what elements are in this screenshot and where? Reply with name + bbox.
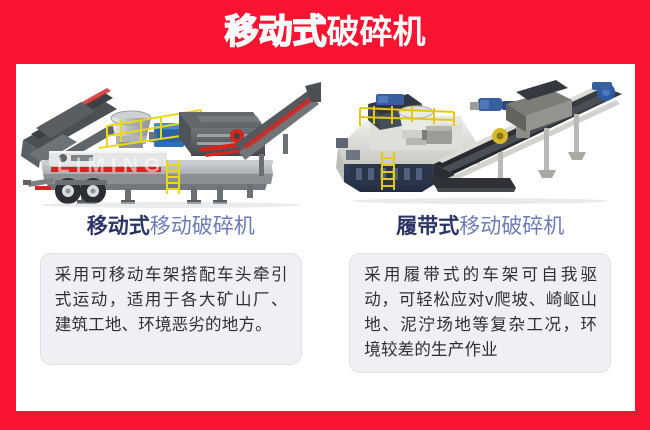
poster-title-bar: 移动式破碎机 [0,0,650,63]
poster-root: 移动式破碎机 [0,0,650,430]
crawler-mobile-crusher-photo: SH [330,68,630,208]
motor-block [422,126,452,144]
column-crawler-crusher: SH [326,64,636,411]
caption-light-crawler: 移动破碎机 [459,215,564,238]
caption-light-wheeled: 移动破碎机 [150,215,255,238]
page-title: 移动式破碎机 [225,15,426,49]
page-title-strong: 移动式 [225,15,327,49]
wheeled-mobile-crusher-photo: LIMING [21,68,321,208]
caption-wheeled: 移动式移动破碎机 [87,216,255,237]
description-text-wheeled: 采用可移动车架搭配车头牵引式运动，适用于各大矿山厂、建筑工地、环境恶劣的地方。 [55,263,288,338]
description-box-wheeled: 采用可移动车架搭配车头牵引式运动，适用于各大矿山厂、建筑工地、环境恶劣的地方。 [40,253,302,365]
comparison-columns: LIMING 移动式移动破碎机 采用可移动车架搭配车头牵引式运动，适用于各大矿山… [16,64,635,411]
page-title-light: 破碎机 [327,15,426,48]
caption-strong-wheeled: 移动式 [87,215,150,238]
return-belt [430,178,516,192]
caption-strong-crawler: 履带式 [396,215,459,238]
description-box-crawler: 采用履带式的车架可自我驱动，可轻松应对v爬坡、崎岖山地、泥泞场地等复杂工况，环境… [349,253,611,373]
column-wheeled-crusher: LIMING 移动式移动破碎机 采用可移动车架搭配车头牵引式运动，适用于各大矿山… [16,64,326,411]
content-card: LIMING 移动式移动破碎机 采用可移动车架搭配车头牵引式运动，适用于各大矿山… [16,64,635,411]
caption-crawler: 履带式移动破碎机 [396,216,564,237]
description-text-crawler: 采用履带式的车架可自我驱动，可轻松应对v爬坡、崎岖山地、泥泞场地等复杂工况，环境… [364,263,597,363]
side-panel [49,151,167,172]
yellow-ladder [167,160,179,194]
